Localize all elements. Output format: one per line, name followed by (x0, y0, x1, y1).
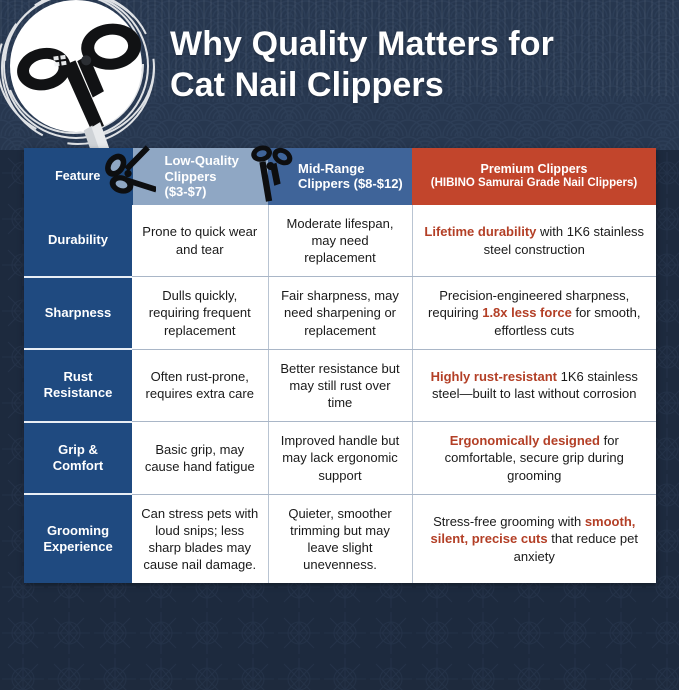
low-quality-cell: Basic grip, may cause hand fatigue (132, 422, 268, 494)
feature-cell: Grooming Experience (24, 494, 132, 583)
title-line-2: Cat Nail Clippers (170, 65, 670, 106)
table-row: Rust ResistanceOften rust-prone, require… (24, 349, 656, 421)
mid-range-cell: Quieter, smoother trimming but may leave… (268, 494, 412, 583)
column-header-feature: Feature (24, 148, 132, 205)
premium-cell: Lifetime durability with 1K6 stainless s… (412, 205, 656, 277)
premium-cell: Precision-engineered sharpness, requirin… (412, 277, 656, 349)
title-line-1: Why Quality Matters for (170, 24, 670, 65)
feature-cell: Rust Resistance (24, 349, 132, 421)
column-header-feature-label: Feature (55, 169, 100, 183)
page-title: Why Quality Matters for Cat Nail Clipper… (170, 24, 670, 107)
premium-cell: Ergonomically designed for comfortable, … (412, 422, 656, 494)
column-header-premium-label: Premium Clippers (481, 162, 588, 176)
low-quality-cell: Often rust-prone, requires extra care (132, 349, 268, 421)
column-header-premium-sub: (HIBINO Samurai Grade Nail Clippers) (418, 177, 650, 191)
column-header-mid-range-price: Clippers ($8-$12) (298, 176, 406, 192)
table-row: SharpnessDulls quickly, requiring freque… (24, 277, 656, 349)
column-header-low-quality-label: Low-Quality (165, 153, 263, 169)
low-quality-cell: Dulls quickly, requiring frequent replac… (132, 277, 268, 349)
column-header-premium: Premium Clippers (HIBINO Samurai Grade N… (412, 148, 656, 205)
table-row: Grooming ExperienceCan stress pets with … (24, 494, 656, 583)
low-quality-cell: Prone to quick wear and tear (132, 205, 268, 277)
column-header-mid-range-label: Mid-Range (298, 161, 406, 177)
feature-cell: Sharpness (24, 277, 132, 349)
premium-text: Stress-free grooming with (433, 514, 585, 529)
column-header-low-quality: Low-Quality Clippers ($3-$7) (132, 148, 268, 205)
table-body: DurabilityProne to quick wear and tearMo… (24, 205, 656, 584)
premium-highlight-text: Lifetime durability (424, 224, 536, 239)
mid-range-cell: Moderate lifespan, may need replacement (268, 205, 412, 277)
nail-clippers-badge (0, 0, 170, 164)
mid-range-cell: Improved handle but may lack ergonomic s… (268, 422, 412, 494)
feature-cell: Grip & Comfort (24, 422, 132, 494)
column-header-mid-range: Mid-Range Clippers ($8-$12) (268, 148, 412, 205)
table-row: DurabilityProne to quick wear and tearMo… (24, 205, 656, 277)
mid-range-cell: Better resistance but may still rust ove… (268, 349, 412, 421)
premium-cell: Stress-free grooming with smooth, silent… (412, 494, 656, 583)
header: Why Quality Matters for Cat Nail Clipper… (0, 0, 679, 148)
low-quality-cell: Can stress pets with loud snips; less sh… (132, 494, 268, 583)
table-header-row: Feature Low-Quality Clippers ($3-$7) Mid… (24, 148, 656, 205)
comparison-table: Feature Low-Quality Clippers ($3-$7) Mid… (24, 148, 656, 583)
premium-cell: Highly rust-resistant 1K6 stainless stee… (412, 349, 656, 421)
premium-highlight-text: Highly rust-resistant (431, 369, 557, 384)
feature-cell: Durability (24, 205, 132, 277)
table-header: Feature Low-Quality Clippers ($3-$7) Mid… (24, 148, 656, 205)
premium-highlight-text: Ergonomically designed (450, 433, 600, 448)
mid-range-cell: Fair sharpness, may need sharpening or r… (268, 277, 412, 349)
table-row: Grip & ComfortBasic grip, may cause hand… (24, 422, 656, 494)
column-header-low-quality-price: Clippers ($3-$7) (165, 169, 263, 200)
premium-highlight-text: 1.8x less force (482, 305, 572, 320)
